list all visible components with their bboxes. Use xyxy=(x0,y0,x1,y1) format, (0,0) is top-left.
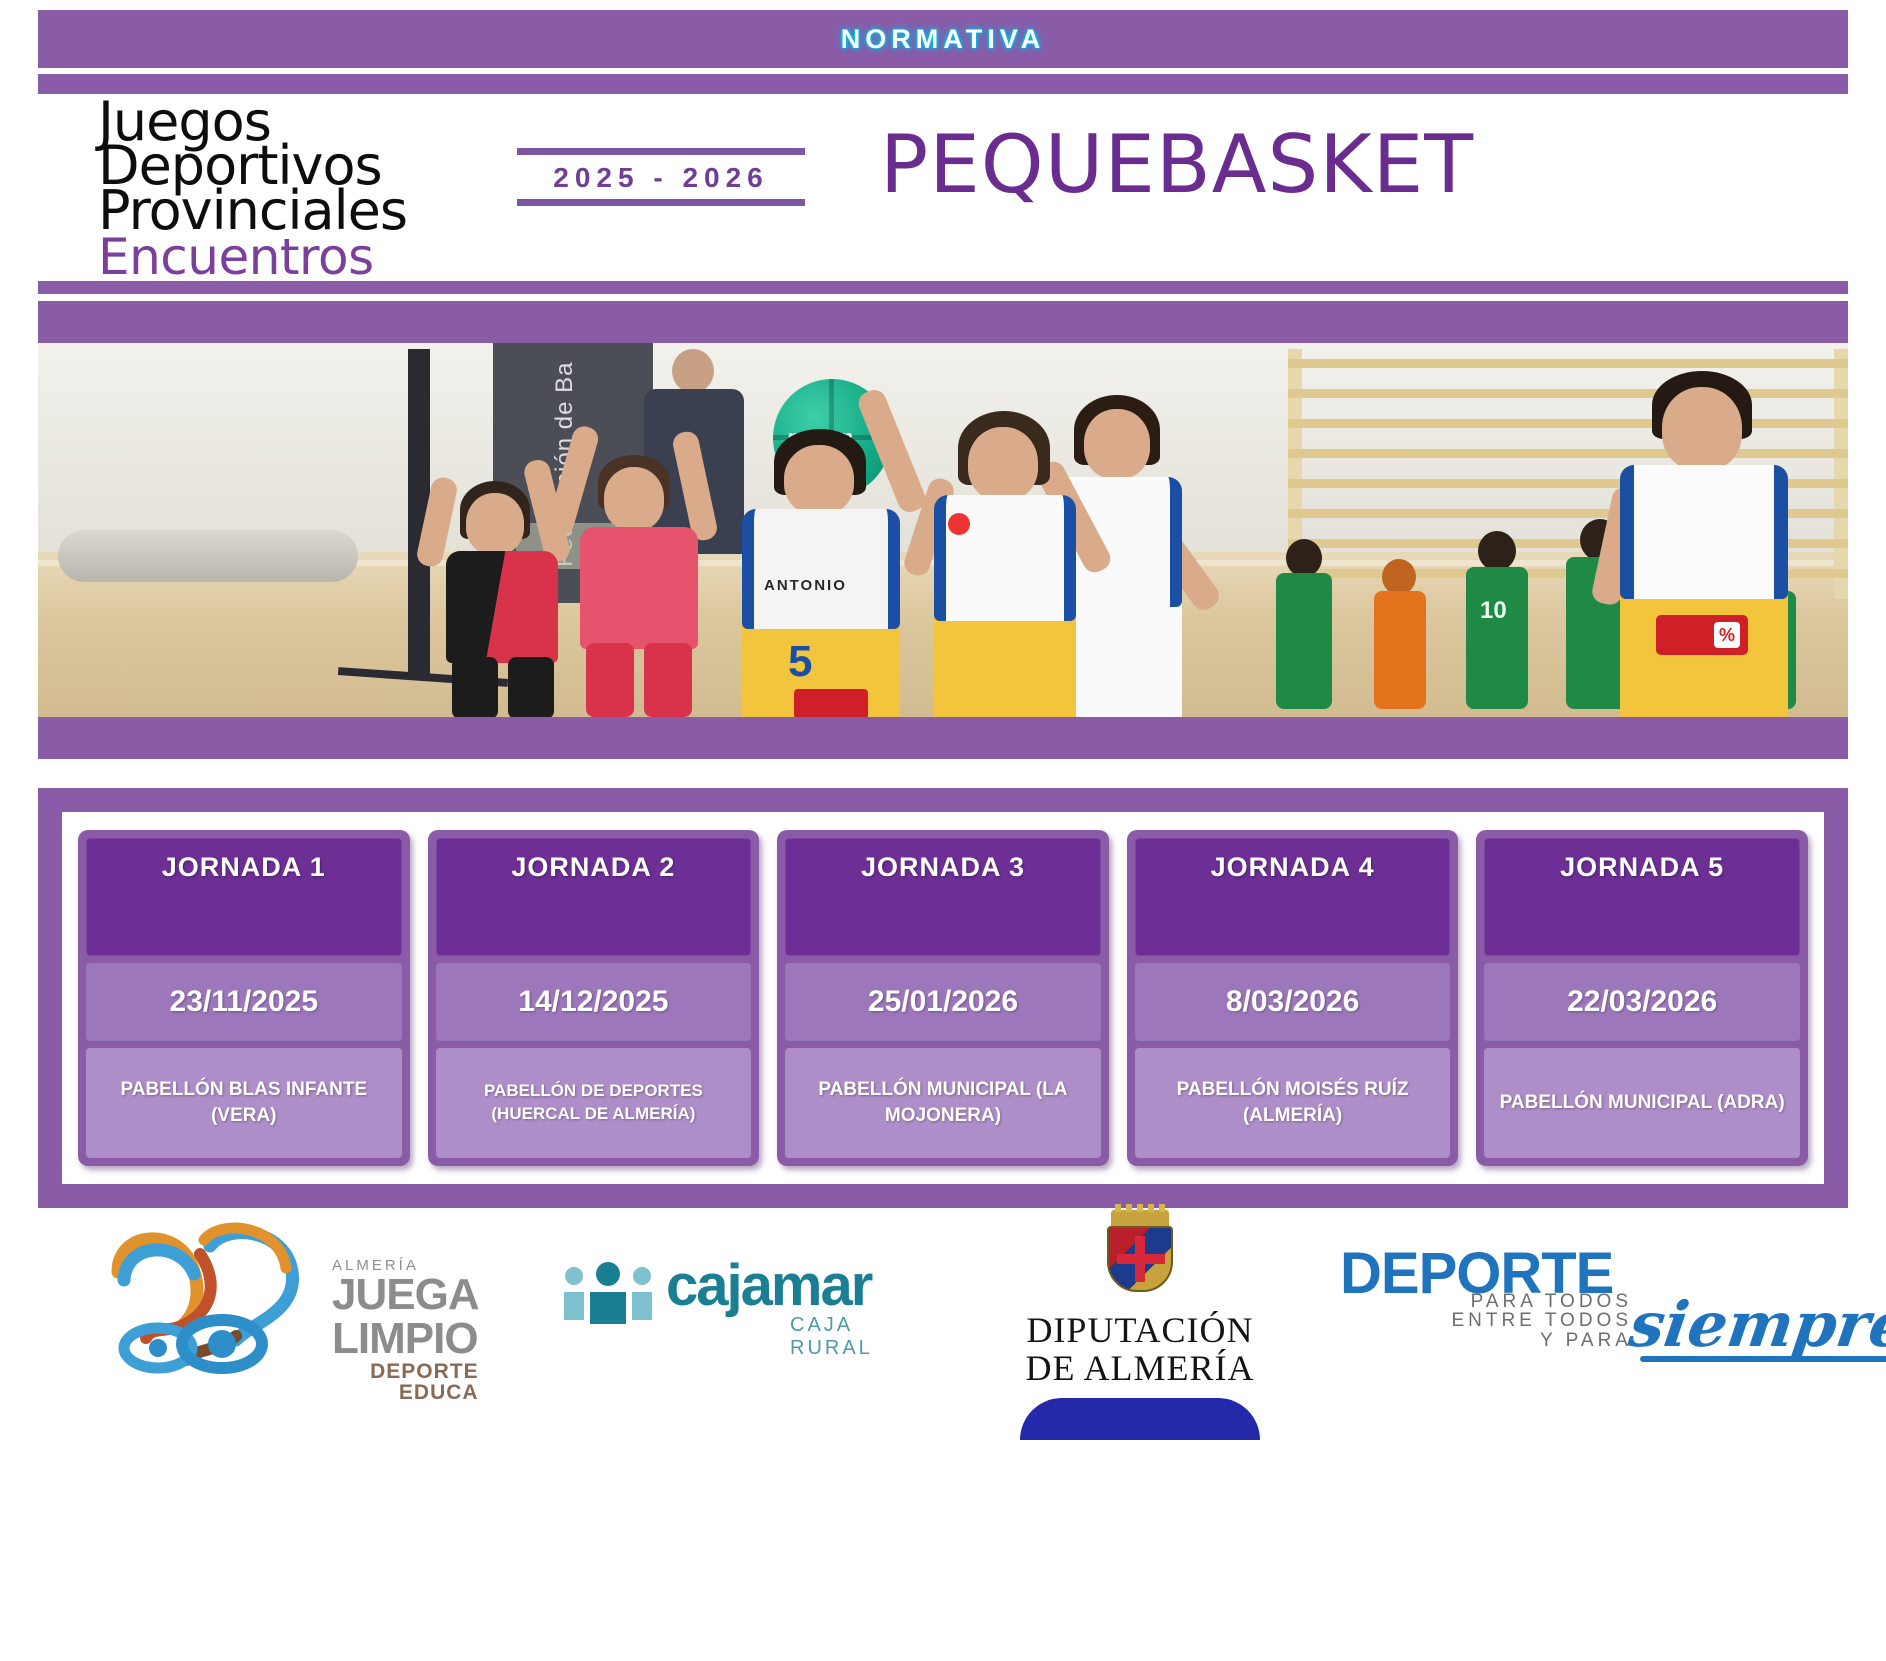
jornada-title: JORNADA 4 xyxy=(1135,838,1451,956)
deporte-tagline-3: Y PARA xyxy=(1342,1331,1632,1350)
sponsor-cajamar: cajamar CAJA RURAL xyxy=(560,1256,920,1366)
hero-photo: Federación de Ba 10 molten xyxy=(38,343,1848,717)
sponsor-juega-limpio: ALMERÍA JUEGA LIMPIO DEPORTE EDUCA xyxy=(100,1220,500,1420)
jornada-venue: PABELLÓN MOISÉS RUÍZ (ALMERÍA) xyxy=(1135,1048,1451,1158)
juega-limpio-heart-icon xyxy=(100,1220,330,1380)
juega-limpio-wordmark: ALMERÍA JUEGA LIMPIO DEPORTE EDUCA xyxy=(332,1258,479,1403)
cajamar-wordmark: cajamar xyxy=(666,1252,871,1319)
jersey-sponsor-patch xyxy=(794,689,868,717)
jornada-date: 22/03/2026 xyxy=(1484,963,1800,1041)
jl-line4: EDUCA xyxy=(332,1382,479,1403)
jornada-title: JORNADA 1 xyxy=(86,838,402,956)
deporte-tagline: PARA TODOS ENTRE TODOS Y PARA xyxy=(1342,1292,1632,1350)
logo-line-encuentros: Encuentros xyxy=(98,237,407,278)
jornada-card-2[interactable]: JORNADA 2 14/12/2025 PABELLÓN DE DEPORTE… xyxy=(428,830,760,1166)
deporte-tagline-1: PARA TODOS xyxy=(1342,1292,1632,1311)
jornada-venue: PABELLÓN MUNICIPAL (LA MOJONERA) xyxy=(785,1048,1101,1158)
rolled-mat xyxy=(58,530,358,582)
background-player xyxy=(1368,559,1430,709)
player-pink xyxy=(558,449,718,717)
jornada-title: JORNADA 2 xyxy=(436,838,752,956)
photo-bar-bottom xyxy=(38,717,1848,759)
jl-line2: LIMPIO xyxy=(332,1317,479,1361)
season-rule-bottom xyxy=(517,199,805,206)
normativa-label: NORMATIVA xyxy=(841,24,1045,55)
jornada-date: 8/03/2026 xyxy=(1135,963,1451,1041)
season-rule-top xyxy=(517,148,805,155)
deporte-tagline-2: ENTRE TODOS xyxy=(1342,1311,1632,1330)
photo-bar-top xyxy=(38,301,1848,343)
sponsor-patch-percent: % xyxy=(1714,622,1740,648)
siempre-underline xyxy=(1640,1356,1886,1362)
sponsor-strip: ALMERÍA JUEGA LIMPIO DEPORTE EDUCA cajam… xyxy=(0,1220,1886,1450)
wall-bars-frame-right xyxy=(1834,349,1848,599)
season-badge: 2025 - 2026 xyxy=(517,148,805,206)
diputacion-line1: DIPUTACIÓN xyxy=(975,1312,1305,1350)
page-title: PEQUEBASKET xyxy=(880,118,1474,211)
logo-line-provinciales: Provinciales xyxy=(98,189,407,233)
sponsor-diputacion: DIPUTACIÓN DE ALMERÍA xyxy=(975,1210,1305,1440)
season-years: 2025 - 2026 xyxy=(517,155,805,199)
jornada-date: 23/11/2025 xyxy=(86,963,402,1041)
diputacion-arc xyxy=(1020,1398,1260,1440)
banner-accent-bar xyxy=(38,74,1848,94)
background-jersey-number: 10 xyxy=(1480,597,1507,625)
jornada-venue: PABELLÓN BLAS INFANTE (VERA) xyxy=(86,1048,402,1158)
background-player xyxy=(1268,539,1338,709)
jornada-title: JORNADA 5 xyxy=(1484,838,1800,956)
background-player: 10 xyxy=(1458,531,1534,709)
sponsor-patch-dia: % xyxy=(1656,615,1748,655)
diputacion-line2: DE ALMERÍA xyxy=(975,1350,1305,1388)
diputacion-crest-icon xyxy=(1101,1210,1179,1306)
jersey-number-label: 5 xyxy=(788,637,812,687)
header-divider-bar xyxy=(38,281,1848,294)
jornada-card-3[interactable]: JORNADA 3 25/01/2026 PABELLÓN MUNICIPAL … xyxy=(777,830,1109,1166)
jornada-card-1[interactable]: JORNADA 1 23/11/2025 PABELLÓN BLAS INFAN… xyxy=(78,830,410,1166)
jl-line3: DEPORTE xyxy=(332,1361,479,1382)
jl-line1: JUEGA xyxy=(332,1273,479,1317)
jornada-date: 25/01/2026 xyxy=(785,963,1101,1041)
normativa-banner: NORMATIVA xyxy=(38,10,1848,68)
page-header: Juegos Deportivos Provinciales Encuentro… xyxy=(0,98,1886,280)
player-girl-front xyxy=(918,417,1093,717)
player-antonio: ANTONIO 5 xyxy=(728,417,918,717)
schedule-card-row: JORNADA 1 23/11/2025 PABELLÓN BLAS INFAN… xyxy=(62,812,1824,1184)
schedule-panel: JORNADA 1 23/11/2025 PABELLÓN BLAS INFAN… xyxy=(38,788,1848,1208)
jornada-venue: PABELLÓN MUNICIPAL (ADRA) xyxy=(1484,1048,1800,1158)
hero-photo-block: Federación de Ba 10 molten xyxy=(38,301,1848,759)
cajamar-subtitle: CAJA RURAL xyxy=(790,1314,920,1360)
player-right-foreground: % xyxy=(1598,387,1808,717)
jornada-venue: PABELLÓN DE DEPORTES (HUERCAL DE ALMERÍA… xyxy=(436,1048,752,1158)
jornada-date: 14/12/2025 xyxy=(436,963,752,1041)
jornada-card-4[interactable]: JORNADA 4 8/03/2026 PABELLÓN MOISÉS RUÍZ… xyxy=(1127,830,1459,1166)
juegos-deportivos-logo: Juegos Deportivos Provinciales Encuentro… xyxy=(98,100,407,278)
siempre-script: siempre xyxy=(1625,1288,1886,1361)
jornada-title: JORNADA 3 xyxy=(785,838,1101,956)
sponsor-deporte-siempre: DEPORTE PARA TODOS ENTRE TODOS Y PARA si… xyxy=(1340,1240,1810,1380)
jersey-name-label: ANTONIO xyxy=(764,577,847,594)
cajamar-people-icon xyxy=(560,1262,656,1326)
jornada-card-5[interactable]: JORNADA 5 22/03/2026 PABELLÓN MUNICIPAL … xyxy=(1476,830,1808,1166)
